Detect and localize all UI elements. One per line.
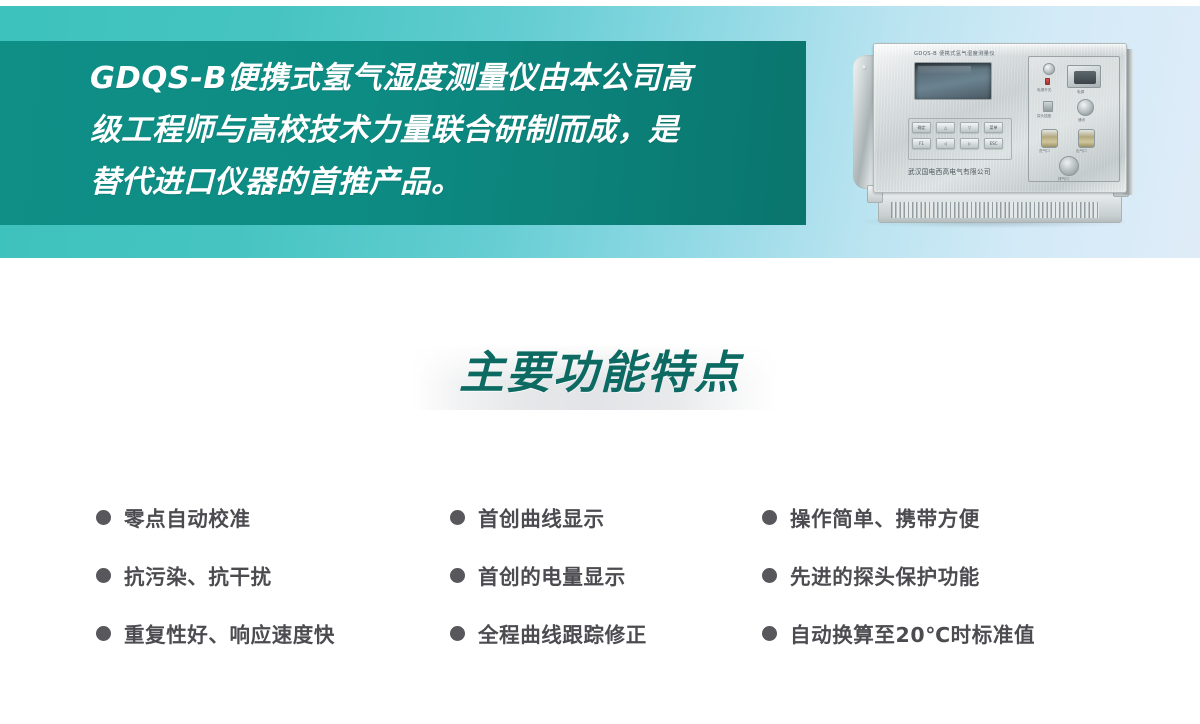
- product-feature-page: GDQS-B便携式氢气湿度测量仪由本公司高 级工程师与高校技术力量联合研制而成，…: [0, 0, 1200, 724]
- feature-label: 重复性好、响应速度快: [124, 618, 335, 648]
- feature-item: 零点自动校准: [96, 502, 450, 532]
- feature-label: 首创的电量显示: [478, 560, 626, 590]
- keypad-bracket: [908, 118, 1012, 160]
- feature-item: 自动换算至20℃时标准值: [762, 618, 1126, 648]
- feature-label: 首创曲线显示: [478, 502, 605, 532]
- bullet-icon: [450, 568, 465, 583]
- feature-item: 重复性好、响应速度快: [96, 618, 450, 648]
- connector-label-vent: 排气口: [1058, 177, 1069, 182]
- bullet-icon: [450, 626, 465, 641]
- feature-list: 零点自动校准 首创曲线显示 操作简单、携带方便 抗污染、抗干扰 首创的电量显示 …: [96, 488, 1126, 662]
- feature-label: 先进的探头保护功能: [790, 560, 980, 590]
- device-gas-inlet: [1041, 129, 1058, 148]
- hero-banner: GDQS-B便携式氢气湿度测量仪由本公司高 级工程师与高校技术力量联合研制而成，…: [0, 3, 1200, 258]
- section-title: 主要功能特点: [0, 336, 1200, 401]
- banner-top-white-strip: [0, 3, 1200, 6]
- bullet-icon: [762, 568, 777, 583]
- device-connector-panel: 电源开关 电源 探头插座 通讯 进气口 出气口 排气口: [1028, 56, 1120, 182]
- device-front-panel: GDQS-B 便携式氢气湿度测量仪 确定 △ ▽ 菜单 F1 ◁ ▷ ESC: [873, 43, 1127, 193]
- device-vent-grille: [891, 202, 1099, 218]
- bullet-icon: [762, 626, 777, 641]
- feature-label: 全程曲线跟踪修正: [478, 618, 647, 648]
- feature-item: 首创曲线显示: [450, 502, 762, 532]
- bullet-icon: [96, 626, 111, 641]
- device-power-socket: [1067, 65, 1101, 88]
- bullet-icon: [96, 568, 111, 583]
- device-gas-outlet: [1078, 129, 1095, 148]
- feature-item: 首创的电量显示: [450, 560, 762, 590]
- device-vent-port: [1059, 156, 1079, 176]
- connector-label-power: 电源: [1077, 90, 1084, 95]
- bullet-icon: [96, 510, 111, 525]
- feature-item: 抗污染、抗干扰: [96, 560, 450, 590]
- feature-label: 抗污染、抗干扰: [124, 560, 272, 590]
- device-company-label: 武汉国电西高电气有限公司: [908, 166, 991, 176]
- device-power-led: [1045, 78, 1050, 85]
- device-probe-socket: [1043, 101, 1053, 112]
- bullet-icon: [450, 510, 465, 525]
- feature-label: 操作简单、携带方便: [790, 502, 980, 532]
- feature-label: 零点自动校准: [124, 502, 251, 532]
- connector-label-comm: 通讯: [1078, 118, 1085, 123]
- connector-label-gas-in: 进气口: [1039, 149, 1050, 154]
- device-lower-housing: [878, 189, 1122, 223]
- connector-label-probe: 探头插座: [1037, 114, 1051, 119]
- feature-label: 自动换算至20℃时标准值: [790, 618, 1035, 648]
- device-comm-socket: [1077, 99, 1094, 116]
- feature-item: 全程曲线跟踪修正: [450, 618, 762, 648]
- device-keypad: 确定 △ ▽ 菜单 F1 ◁ ▷ ESC: [912, 122, 1008, 156]
- feature-item: 操作简单、携带方便: [762, 502, 1126, 532]
- connector-label-gas-out: 出气口: [1076, 149, 1087, 154]
- product-device-image: GDQS-B 便携式氢气湿度测量仪 确定 △ ▽ 菜单 F1 ◁ ▷ ESC: [845, 29, 1145, 234]
- device-model-label: GDQS-B 便携式氢气湿度测量仪: [914, 50, 995, 57]
- bullet-icon: [762, 510, 777, 525]
- device-lcd-screen: [914, 62, 992, 100]
- banner-headline: GDQS-B便携式氢气湿度测量仪由本公司高 级工程师与高校技术力量联合研制而成，…: [90, 53, 790, 209]
- connector-label-switch: 电源开关: [1037, 88, 1051, 93]
- device-power-switch: [1043, 63, 1055, 75]
- feature-item: 先进的探头保护功能: [762, 560, 1126, 590]
